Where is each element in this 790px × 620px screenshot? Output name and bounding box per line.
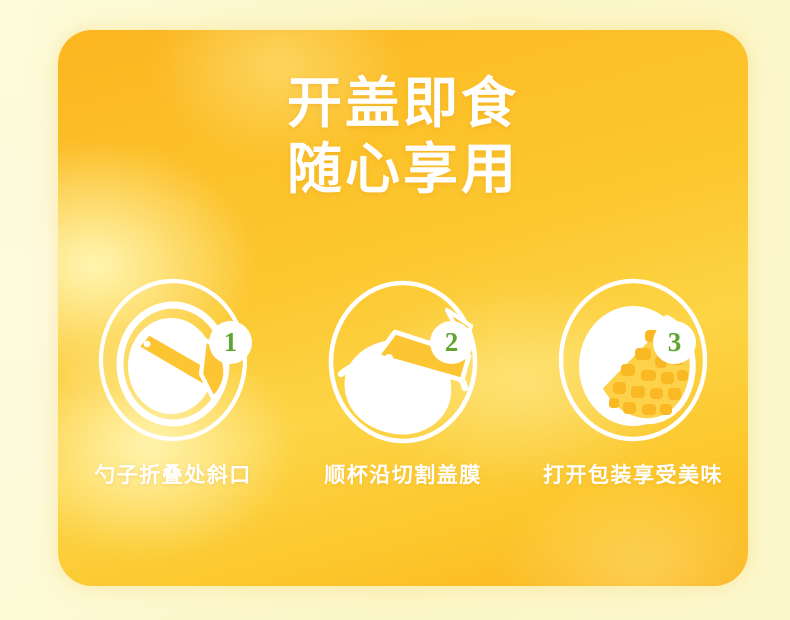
step-2-number: 2 (445, 329, 459, 356)
step-1-caption: 勺子折叠处斜口 (94, 459, 252, 489)
step-3-number: 3 (668, 329, 682, 356)
step-2-caption: 顺杯沿切割盖膜 (324, 459, 482, 489)
step-3-caption: 打开包装享受美味 (543, 459, 723, 489)
step-2: 顺杯沿切割盖膜 (300, 270, 506, 489)
step-3-artwork (549, 270, 717, 450)
headline-line-2: 随心享用 (58, 136, 748, 202)
steps-row: 勺子折叠处斜口 (58, 270, 748, 489)
headline: 开盖即食 随心享用 (58, 70, 748, 202)
step-3-number-badge: 3 (653, 321, 696, 364)
promo-poster: 开盖即食 随心享用 (0, 0, 790, 620)
headline-line-1: 开盖即食 (58, 70, 748, 136)
step-1-number: 1 (224, 329, 238, 356)
open-package-fruit-icon (549, 270, 717, 450)
step-3: 打开包装享受美味 (530, 270, 736, 489)
step-2-number-badge: 2 (430, 321, 473, 364)
step-1: 勺子折叠处斜口 (70, 270, 276, 489)
step-1-number-badge: 1 (209, 321, 252, 364)
promo-card: 开盖即食 随心享用 (58, 30, 748, 586)
